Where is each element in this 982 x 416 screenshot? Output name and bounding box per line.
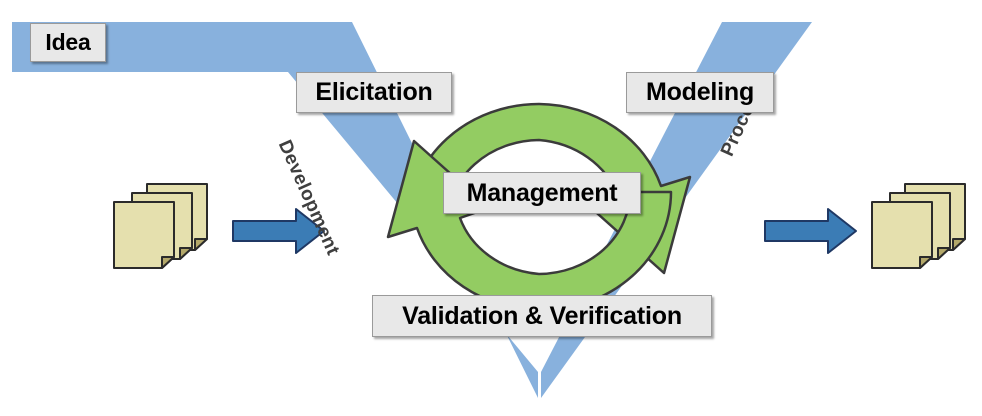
node-idea[interactable]: Idea	[30, 23, 106, 62]
node-elicitation[interactable]: Elicitation	[296, 72, 452, 113]
node-modeling[interactable]: Modeling	[626, 72, 774, 113]
node-validation-verification[interactable]: Validation & Verification	[372, 295, 712, 337]
input-document-stack	[114, 184, 207, 268]
output-flow-arrow	[765, 209, 856, 253]
node-management[interactable]: Management	[443, 172, 641, 214]
vee-model-diagram: Development Process Idea Elicitation Mod…	[0, 0, 982, 416]
output-document-stack	[872, 184, 965, 268]
